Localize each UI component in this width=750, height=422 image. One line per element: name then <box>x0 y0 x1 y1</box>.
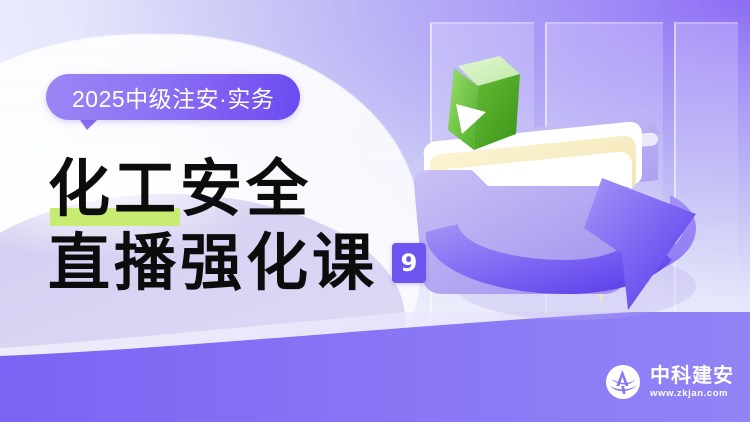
headline-group: 化工安全 直播强化课 9 <box>48 152 426 300</box>
episode-badge: 9 <box>392 243 426 283</box>
brand-logo: 中科建安 www.zkjan.com <box>605 364 734 400</box>
illustration <box>396 18 750 348</box>
logo-website-url: www.zkjan.com <box>650 389 734 399</box>
category-badge: 2025中级注安·实务 <box>46 74 300 120</box>
logo-company-name: 中科建安 <box>650 365 734 385</box>
category-badge-label: 2025中级注安·实务 <box>72 80 274 114</box>
headline-line-2: 直播强化课 <box>48 226 378 300</box>
headline-line-1: 化工安全 <box>48 152 312 225</box>
logo-text-group: 中科建安 www.zkjan.com <box>650 365 734 399</box>
play-cube <box>448 56 520 150</box>
course-banner: 2025中级注安·实务 化工安全 直播强化课 9 中科建安 www.zkjan.… <box>0 0 750 422</box>
headline-line-2-wrap: 直播强化课 9 <box>48 226 426 300</box>
logo-circle-person-swoosh-icon <box>605 364 641 400</box>
headline-line-1-wrap: 化工安全 <box>48 152 426 226</box>
